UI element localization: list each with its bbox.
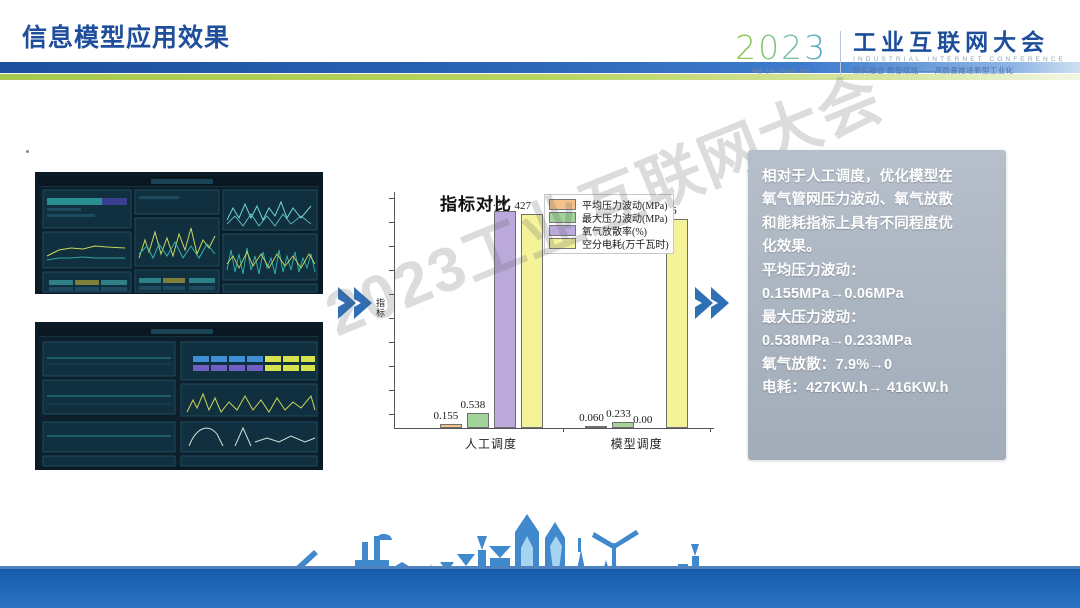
chart-x-tick <box>710 428 711 432</box>
logo-name-cn: 工业互联网大会 <box>853 30 1066 54</box>
info-panel-line: 0.155MPa→0.06MPa <box>762 283 992 306</box>
chart-bar-label: 7.90 <box>488 197 507 209</box>
indicator-comparison-chart: 指标对比 指标 0.1550.5387.904270.0600.2330.004… <box>366 180 726 465</box>
chart-bar-label: 0.155 <box>434 410 459 422</box>
chart-bar <box>467 413 489 428</box>
chart-y-tick <box>389 222 394 223</box>
dashboard-body <box>39 326 319 466</box>
conference-logo: 2023 中国·吉林 9月14日-15日 工业互联网大会 INDUSTRIAL … <box>735 24 1066 82</box>
footer-skyline <box>0 488 1080 608</box>
chart-bar-label: 0.00 <box>633 414 652 426</box>
chart-category-label: 人工调度 <box>465 435 517 452</box>
chart-bar <box>440 424 462 428</box>
info-panel-line: 相对于人工调度，优化模型在 <box>762 166 992 189</box>
dashboard-charts <box>39 188 321 293</box>
logo-name-en: INDUSTRIAL INTERNET CONFERENCE <box>853 56 1066 63</box>
logo-text-block: 工业互联网大会 INDUSTRIAL INTERNET CONFERENCE 数… <box>841 30 1066 76</box>
page-title: 信息模型应用效果 <box>22 18 230 54</box>
chart-y-tick <box>389 366 394 367</box>
dashboard-screenshot-bottom <box>35 322 323 470</box>
chart-y-tick <box>389 414 394 415</box>
info-panel: 相对于人工调度，优化模型在氧气管网压力波动、氧气放散和能耗指标上具有不同程度优化… <box>748 150 1006 460</box>
chart-legend-swatch <box>549 225 576 236</box>
slide: 信息模型应用效果 2023 中国·吉林 9月14日-15日 工业互联网大会 IN… <box>0 0 1080 608</box>
chart-bar-label: 0.538 <box>461 399 486 411</box>
bullet-dot <box>26 150 29 153</box>
chart-x-axis <box>394 428 714 429</box>
logo-tagline: 数实融合 数智赋能——高质量推进新型工业化 <box>853 65 1066 76</box>
info-panel-line: 电耗：427KW.h→ 416KW.h <box>762 377 992 400</box>
info-panel-line: 氧气管网压力波动、氧气放散 <box>762 189 992 212</box>
chart-bar <box>612 422 634 428</box>
logo-year: 2023 <box>735 31 827 64</box>
chart-bar <box>521 214 543 428</box>
logo-year-block: 2023 中国·吉林 9月14日-15日 <box>735 31 840 75</box>
chart-y-tick <box>389 318 394 319</box>
chart-legend-swatch <box>549 212 576 223</box>
chart-y-tick <box>389 342 394 343</box>
chart-y-tick <box>389 390 394 391</box>
chart-legend-swatch <box>549 199 576 210</box>
dashboard-topbar <box>39 176 319 187</box>
info-panel-line: 最大压力波动： <box>762 307 992 330</box>
info-panel-line: 化效果。 <box>762 236 992 259</box>
info-panel-line: 和能耗指标上具有不同程度优 <box>762 213 992 236</box>
chart-y-tick <box>389 294 394 295</box>
chart-bar-label: 0.060 <box>579 412 604 424</box>
info-panel-line: 平均压力波动： <box>762 260 992 283</box>
chart-y-tick <box>389 246 394 247</box>
chart-legend: 平均压力波动(MPa)最大压力波动(MPa)氧气放散率(%)空分电耗(万千瓦时) <box>544 194 674 254</box>
info-panel-line: 氧气放散：7.9%→0 <box>762 354 992 377</box>
dashboard-screenshot-top <box>35 172 323 294</box>
chart-y-tick <box>389 198 394 199</box>
chart-category-label: 模型调度 <box>611 435 663 452</box>
footer-band <box>0 566 1080 608</box>
chart-bar-label: 427 <box>515 200 532 212</box>
chart-y-tick <box>389 270 394 271</box>
chart-bar-label: 0.233 <box>606 408 631 420</box>
info-panel-line: 0.538MPa→0.233MPa <box>762 330 992 353</box>
chart-legend-label: 空分电耗(万千瓦时) <box>582 236 669 251</box>
chart-x-tick <box>563 428 564 432</box>
chart-legend-item: 空分电耗(万千瓦时) <box>549 237 669 250</box>
chart-y-axis-label: 指标 <box>374 298 387 318</box>
dashboard-charts <box>39 338 321 468</box>
chart-bar <box>494 211 516 428</box>
logo-date: 中国·吉林 9月14日-15日 <box>752 68 810 75</box>
dashboard-topbar <box>39 326 319 337</box>
dashboard-body <box>39 176 319 290</box>
chart-bar <box>585 426 607 428</box>
chart-legend-swatch <box>549 238 576 249</box>
